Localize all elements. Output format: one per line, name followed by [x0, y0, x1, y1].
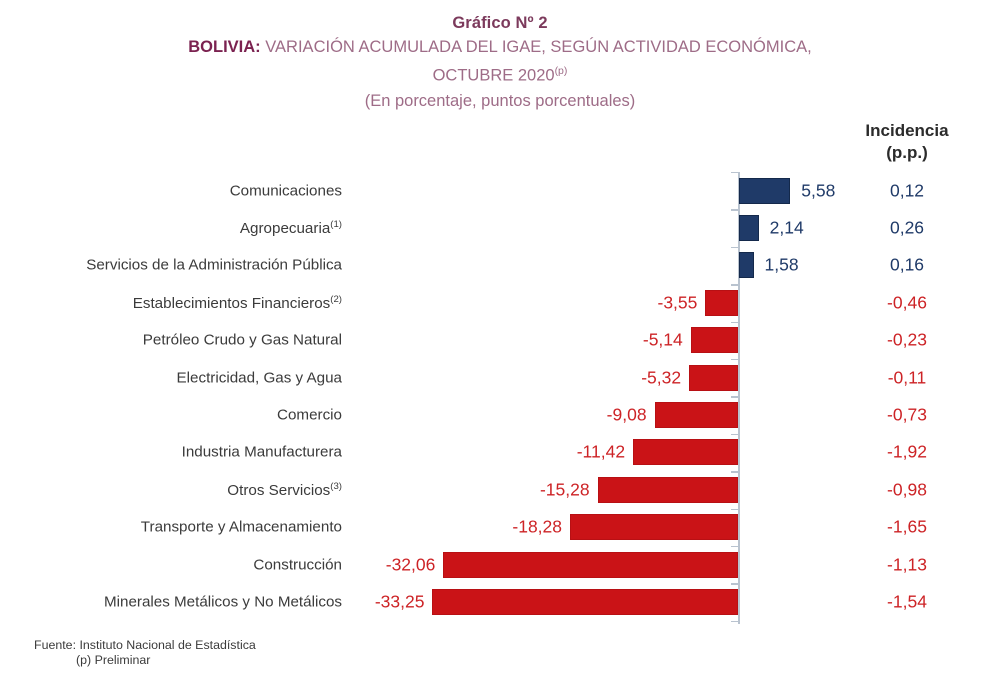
- chart-title-block: Gráfico Nº 2 BOLIVIA: VARIACIÓN ACUMULAD…: [0, 12, 1000, 114]
- category-label: Minerales Metálicos y No Metálicos: [20, 594, 342, 611]
- chart-footer: Fuente: Instituto Nacional de Estadístic…: [34, 638, 256, 668]
- chart-units: (En porcentaje, puntos porcentuales): [0, 88, 1000, 114]
- bar: [570, 514, 738, 540]
- axis-tick: [731, 172, 739, 173]
- incidence-value: -1,65: [832, 517, 982, 538]
- category-label: Comunicaciones: [20, 182, 342, 199]
- incidence-value: -0,46: [832, 292, 982, 313]
- axis-tick: [731, 471, 739, 472]
- chart-row: Electricidad, Gas y Agua-5,32-0,11: [0, 359, 1000, 396]
- chart-row: Construcción-32,06-1,13: [0, 546, 1000, 583]
- chart-row: Minerales Metálicos y No Metálicos-33,25…: [0, 583, 1000, 620]
- bar: [739, 215, 759, 241]
- incidence-value: -0,11: [832, 367, 982, 388]
- chart-number: Gráfico Nº 2: [0, 12, 1000, 35]
- category-label-text: Comercio: [277, 407, 342, 424]
- bar-value-label: -5,14: [643, 330, 683, 351]
- axis-tick: [731, 546, 739, 547]
- incidence-header-line2: (p.p.): [832, 142, 982, 164]
- bar-value-label: 2,14: [770, 218, 804, 239]
- bar-value-label: -5,32: [641, 367, 681, 388]
- bar-value-label: -18,28: [512, 517, 562, 538]
- chart-period: OCTUBRE 2020(p): [0, 59, 1000, 88]
- bar: [689, 365, 738, 391]
- category-label-footnote: (2): [330, 294, 342, 305]
- bar-value-label: -3,55: [658, 292, 698, 313]
- axis-tick: [731, 322, 739, 323]
- axis-tick: [731, 247, 739, 248]
- bar: [443, 552, 738, 578]
- title-country: BOLIVIA:: [188, 38, 260, 56]
- category-label: Comercio: [20, 407, 342, 424]
- category-label-text: Agropecuaria: [240, 220, 330, 237]
- category-label-text: Servicios de la Administración Pública: [86, 257, 342, 274]
- incidence-column-header: Incidencia (p.p.): [832, 120, 982, 164]
- bar: [598, 477, 738, 503]
- category-label: Electricidad, Gas y Agua: [20, 369, 342, 386]
- category-label: Industria Manufacturera: [20, 444, 342, 461]
- incidence-value: -1,54: [832, 592, 982, 613]
- category-label: Construcción: [20, 556, 342, 573]
- period-superscript: (p): [555, 65, 568, 77]
- chart-row: Otros Servicios(3)-15,28-0,98: [0, 471, 1000, 508]
- category-label-text: Construcción: [253, 556, 342, 573]
- axis-tick: [731, 396, 739, 397]
- title-rest: VARIACIÓN ACUMULADA DEL IGAE, SEGÚN ACTI…: [261, 38, 812, 56]
- axis-tick: [731, 284, 739, 285]
- bar-value-label: -33,25: [375, 592, 425, 613]
- axis-tick: [731, 583, 739, 584]
- incidence-value: -0,23: [832, 330, 982, 351]
- category-label: Agropecuaria(1): [20, 219, 342, 237]
- bar: [655, 402, 738, 428]
- category-label: Otros Servicios(3): [20, 481, 342, 499]
- chart-row: Industria Manufacturera-11,42-1,92: [0, 434, 1000, 471]
- bar: [739, 178, 790, 204]
- bar-value-label: 1,58: [765, 255, 799, 276]
- chart-row: Petróleo Crudo y Gas Natural-5,14-0,23: [0, 322, 1000, 359]
- source-note: Fuente: Instituto Nacional de Estadístic…: [34, 638, 256, 652]
- bar: [432, 589, 738, 615]
- category-label-text: Minerales Metálicos y No Metálicos: [104, 594, 342, 611]
- incidence-value: 0,26: [832, 218, 982, 239]
- category-label-text: Otros Servicios: [227, 482, 330, 499]
- chart-row: Servicios de la Administración Pública1,…: [0, 247, 1000, 284]
- bar-value-label: -32,06: [386, 554, 436, 575]
- category-label-footnote: (3): [330, 481, 342, 492]
- chart-row: Comunicaciones5,580,12: [0, 172, 1000, 209]
- axis-tick: [731, 359, 739, 360]
- preliminary-note: (p) Preliminar: [34, 653, 256, 668]
- chart-row: Comercio-9,08-0,73: [0, 396, 1000, 433]
- bar: [705, 290, 738, 316]
- axis-tick: [731, 434, 739, 435]
- bar-value-label: -11,42: [577, 442, 625, 463]
- category-label-text: Transporte y Almacenamiento: [141, 519, 342, 536]
- bar-value-label: -9,08: [607, 405, 647, 426]
- bar: [739, 252, 754, 278]
- bar-value-label: 5,58: [801, 180, 835, 201]
- category-label-text: Industria Manufacturera: [182, 444, 342, 461]
- bar: [633, 439, 738, 465]
- chart-title: BOLIVIA: VARIACIÓN ACUMULADA DEL IGAE, S…: [0, 35, 1000, 59]
- chart-row: Agropecuaria(1)2,140,26: [0, 209, 1000, 246]
- incidence-value: -1,13: [832, 554, 982, 575]
- chart-page: Gráfico Nº 2 BOLIVIA: VARIACIÓN ACUMULAD…: [0, 0, 1000, 685]
- incidence-header-line1: Incidencia: [832, 120, 982, 142]
- chart-row: Establecimientos Financieros(2)-3,55-0,4…: [0, 284, 1000, 321]
- incidence-value: 0,16: [832, 255, 982, 276]
- chart-row: Transporte y Almacenamiento-18,28-1,65: [0, 509, 1000, 546]
- category-label-text: Electricidad, Gas y Agua: [177, 369, 342, 386]
- axis-tick: [731, 509, 739, 510]
- axis-tick: [731, 621, 739, 622]
- category-label: Servicios de la Administración Pública: [20, 257, 342, 274]
- category-label: Establecimientos Financieros(2): [20, 294, 342, 312]
- period-text: OCTUBRE 2020: [433, 67, 555, 85]
- category-label-text: Establecimientos Financieros: [133, 295, 331, 312]
- category-label-footnote: (1): [330, 219, 342, 230]
- category-label: Transporte y Almacenamiento: [20, 519, 342, 536]
- category-label-text: Petróleo Crudo y Gas Natural: [143, 332, 342, 349]
- bar: [691, 327, 738, 353]
- incidence-value: -0,73: [832, 405, 982, 426]
- bar-value-label: -15,28: [540, 479, 590, 500]
- bar-chart-plot-area: Comunicaciones5,580,12Agropecuaria(1)2,1…: [0, 172, 1000, 624]
- incidence-value: -0,98: [832, 479, 982, 500]
- incidence-value: 0,12: [832, 180, 982, 201]
- incidence-value: -1,92: [832, 442, 982, 463]
- category-label-text: Comunicaciones: [230, 182, 342, 199]
- axis-tick: [731, 209, 739, 210]
- category-label: Petróleo Crudo y Gas Natural: [20, 332, 342, 349]
